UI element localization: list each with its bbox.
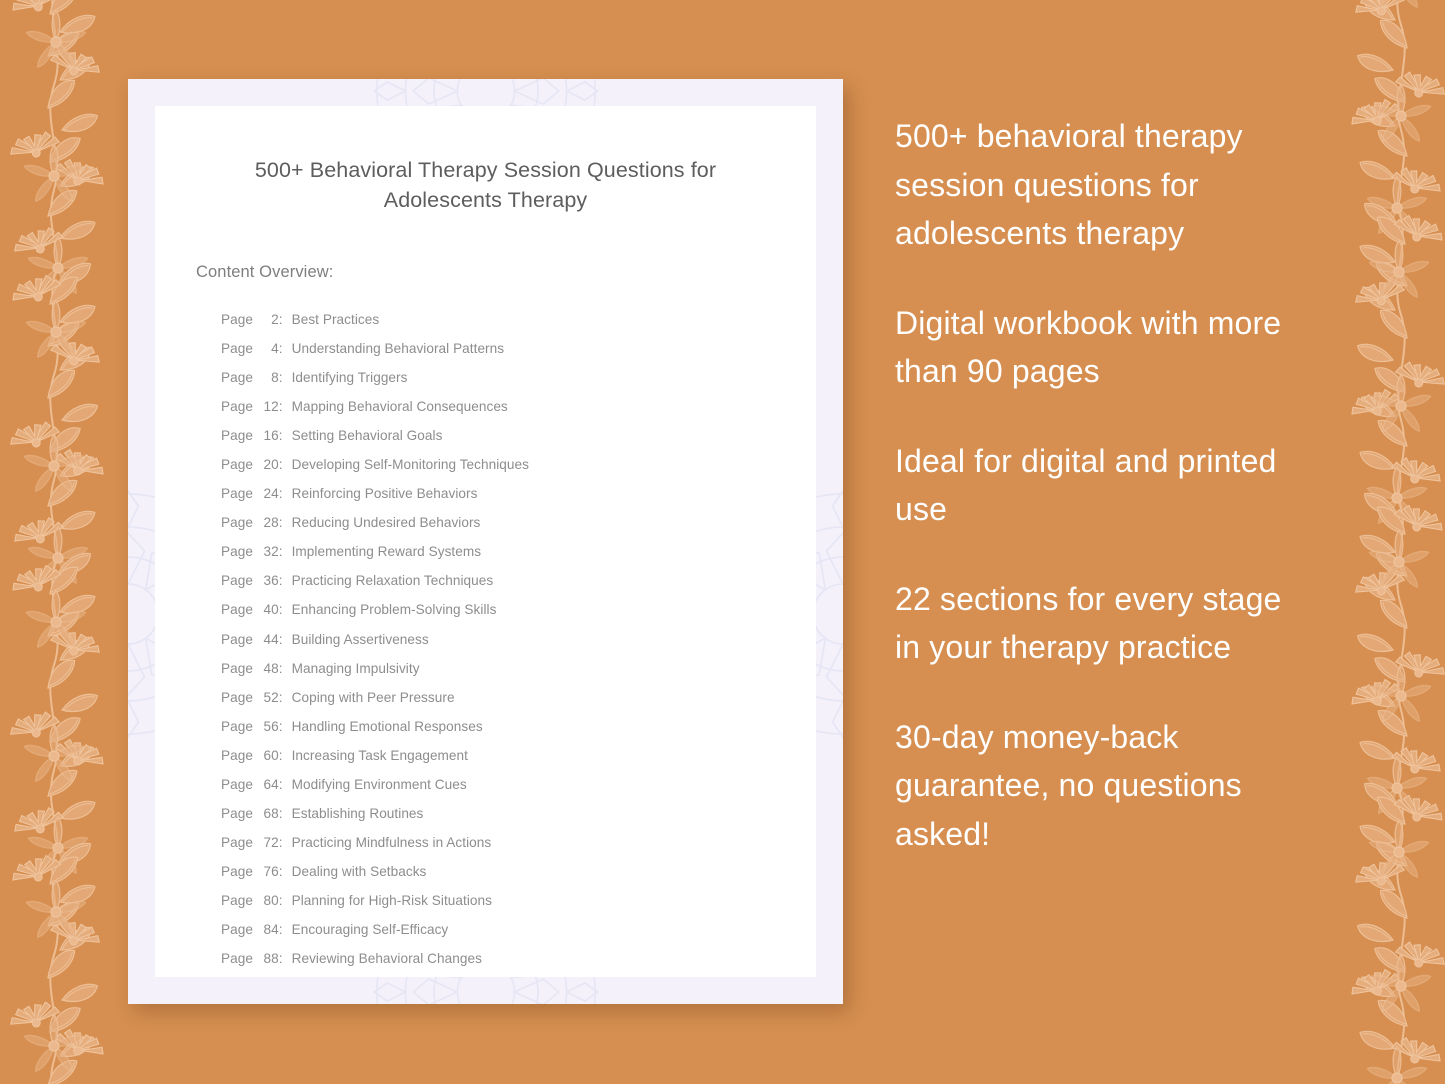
toc-page-number: 80 (257, 886, 279, 915)
toc-page-number: 68 (257, 799, 279, 828)
toc-section-title: Establishing Routines (283, 799, 424, 828)
toc-page-cell: Page 28: (221, 508, 283, 537)
list-item[interactable]: Page 60:Increasing Task Engagement (221, 741, 816, 770)
list-item[interactable]: Page 32:Implementing Reward Systems (221, 537, 816, 566)
toc-page-label: Page (221, 893, 253, 908)
list-item[interactable]: Page 92:Notes Template (221, 973, 816, 977)
toc-section-title: Encouraging Self-Efficacy (283, 915, 449, 944)
toc-page-label: Page (221, 690, 253, 705)
table-of-contents-list: Page 2:Best PracticesPage 4:Understandin… (221, 305, 816, 977)
list-item[interactable]: Page 2:Best Practices (221, 305, 816, 334)
toc-page-label: Page (221, 864, 253, 879)
toc-page-number: 44 (257, 625, 279, 654)
toc-section-title: Practicing Relaxation Techniques (283, 566, 494, 595)
list-item[interactable]: Page 48:Managing Impulsivity (221, 654, 816, 683)
toc-page-number: 16 (257, 421, 279, 450)
toc-page-number: 72 (257, 828, 279, 857)
toc-page-cell: Page 56: (221, 712, 283, 741)
toc-page-label: Page (221, 806, 253, 821)
toc-page-number: 8 (257, 363, 279, 392)
toc-page-cell: Page 16: (221, 421, 283, 450)
marketing-point: 500+ behavioral therapy session question… (895, 112, 1315, 258)
floral-vine-border-right (1310, 0, 1445, 1084)
toc-page-cell: Page 60: (221, 741, 283, 770)
list-item[interactable]: Page 56:Handling Emotional Responses (221, 712, 816, 741)
toc-page-label: Page (221, 719, 253, 734)
toc-page-label: Page (221, 457, 253, 472)
toc-page-label: Page (221, 486, 253, 501)
marketing-point: Ideal for digital and printed use (895, 437, 1315, 534)
toc-page-cell: Page 12: (221, 392, 283, 421)
document-preview-card[interactable]: 500+ Behavioral Therapy Session Question… (128, 79, 843, 1004)
toc-page-cell: Page 48: (221, 654, 283, 683)
toc-page-cell: Page 4: (221, 334, 283, 363)
toc-page-number: 60 (257, 741, 279, 770)
toc-section-title: Increasing Task Engagement (283, 741, 468, 770)
toc-page-cell: Page 76: (221, 857, 283, 886)
toc-section-title: Notes Template (283, 973, 387, 977)
list-item[interactable]: Page 16:Setting Behavioral Goals (221, 421, 816, 450)
toc-page-number: 2 (257, 305, 279, 334)
toc-page-cell: Page 36: (221, 566, 283, 595)
floral-vine-border-left (0, 0, 135, 1084)
toc-page-number: 20 (257, 450, 279, 479)
toc-page-cell: Page 68: (221, 799, 283, 828)
toc-page-number: 52 (257, 683, 279, 712)
toc-page-cell: Page 72: (221, 828, 283, 857)
toc-page-label: Page (221, 573, 253, 588)
page-title: 500+ Behavioral Therapy Session Question… (201, 155, 770, 215)
toc-section-title: Enhancing Problem-Solving Skills (283, 595, 497, 624)
toc-section-title: Identifying Triggers (283, 363, 408, 392)
toc-page-number: 64 (257, 770, 279, 799)
toc-page-label: Page (221, 632, 253, 647)
toc-section-title: Coping with Peer Pressure (283, 683, 455, 712)
toc-section-title: Setting Behavioral Goals (283, 421, 443, 450)
toc-section-title: Modifying Environment Cues (283, 770, 467, 799)
toc-page-cell: Page 64: (221, 770, 283, 799)
list-item[interactable]: Page 68:Establishing Routines (221, 799, 816, 828)
toc-page-number: 48 (257, 654, 279, 683)
toc-page-label: Page (221, 835, 253, 850)
toc-page-number: 28 (257, 508, 279, 537)
toc-page-cell: Page 88: (221, 944, 283, 973)
toc-section-title: Planning for High-Risk Situations (283, 886, 492, 915)
toc-page-cell: Page 2: (221, 305, 283, 334)
toc-section-title: Handling Emotional Responses (283, 712, 483, 741)
toc-page-number: 88 (257, 944, 279, 973)
toc-section-title: Understanding Behavioral Patterns (283, 334, 504, 363)
list-item[interactable]: Page 28:Reducing Undesired Behaviors (221, 508, 816, 537)
toc-page-label: Page (221, 399, 253, 414)
toc-page-number: 24 (257, 479, 279, 508)
list-item[interactable]: Page 24:Reinforcing Positive Behaviors (221, 479, 816, 508)
toc-page-cell: Page 84: (221, 915, 283, 944)
content-overview-label: Content Overview: (196, 263, 816, 282)
marketing-point: 22 sections for every stage in your ther… (895, 575, 1315, 672)
list-item[interactable]: Page 20:Developing Self-Monitoring Techn… (221, 450, 816, 479)
document-page: 500+ Behavioral Therapy Session Question… (155, 106, 816, 977)
toc-page-label: Page (221, 544, 253, 559)
list-item[interactable]: Page 76:Dealing with Setbacks (221, 857, 816, 886)
toc-section-title: Dealing with Setbacks (283, 857, 427, 886)
toc-section-title: Developing Self-Monitoring Techniques (283, 450, 529, 479)
toc-page-cell: Page 92: (221, 973, 283, 977)
toc-page-number: 36 (257, 566, 279, 595)
toc-page-label: Page (221, 661, 253, 676)
list-item[interactable]: Page 40:Enhancing Problem-Solving Skills (221, 595, 816, 624)
toc-page-number: 84 (257, 915, 279, 944)
toc-page-number: 4 (257, 334, 279, 363)
toc-page-cell: Page 32: (221, 537, 283, 566)
toc-page-label: Page (221, 951, 253, 966)
list-item[interactable]: Page 80:Planning for High-Risk Situation… (221, 886, 816, 915)
toc-page-number: 12 (257, 392, 279, 421)
toc-section-title: Managing Impulsivity (283, 654, 420, 683)
list-item[interactable]: Page 4:Understanding Behavioral Patterns (221, 334, 816, 363)
toc-page-label: Page (221, 922, 253, 937)
toc-page-cell: Page 44: (221, 625, 283, 654)
toc-page-label: Page (221, 748, 253, 763)
toc-section-title: Reviewing Behavioral Changes (283, 944, 482, 973)
toc-page-cell: Page 24: (221, 479, 283, 508)
toc-page-cell: Page 80: (221, 886, 283, 915)
toc-page-number: 56 (257, 712, 279, 741)
toc-section-title: Building Assertiveness (283, 625, 429, 654)
list-item[interactable]: Page 36:Practicing Relaxation Techniques (221, 566, 816, 595)
toc-page-label: Page (221, 515, 253, 530)
list-item[interactable]: Page 64:Modifying Environment Cues (221, 770, 816, 799)
marketing-points-panel: 500+ behavioral therapy session question… (895, 112, 1315, 858)
list-item[interactable]: Page 84:Encouraging Self-Efficacy (221, 915, 816, 944)
toc-page-label: Page (221, 312, 253, 327)
list-item[interactable]: Page 88:Reviewing Behavioral Changes (221, 944, 816, 973)
toc-section-title: Best Practices (283, 305, 380, 334)
list-item[interactable]: Page 12:Mapping Behavioral Consequences (221, 392, 816, 421)
toc-page-number: 32 (257, 537, 279, 566)
list-item[interactable]: Page 72:Practicing Mindfulness in Action… (221, 828, 816, 857)
toc-page-label: Page (221, 428, 253, 443)
toc-section-title: Implementing Reward Systems (283, 537, 481, 566)
toc-page-cell: Page 40: (221, 595, 283, 624)
toc-section-title: Reinforcing Positive Behaviors (283, 479, 478, 508)
marketing-point: Digital workbook with more than 90 pages (895, 299, 1315, 396)
toc-page-cell: Page 20: (221, 450, 283, 479)
toc-section-title: Reducing Undesired Behaviors (283, 508, 481, 537)
toc-page-label: Page (221, 602, 253, 617)
list-item[interactable]: Page 52:Coping with Peer Pressure (221, 683, 816, 712)
marketing-point: 30-day money-back guarantee, no question… (895, 713, 1315, 859)
toc-page-label: Page (221, 370, 253, 385)
floral-vine-border-icon (1310, 0, 1445, 1084)
toc-page-label: Page (221, 341, 253, 356)
toc-page-number: 92 (257, 973, 279, 977)
list-item[interactable]: Page 8:Identifying Triggers (221, 363, 816, 392)
floral-vine-border-icon (0, 0, 135, 1084)
toc-section-title: Mapping Behavioral Consequences (283, 392, 508, 421)
toc-page-label: Page (221, 777, 253, 792)
toc-page-cell: Page 8: (221, 363, 283, 392)
toc-page-number: 76 (257, 857, 279, 886)
toc-page-cell: Page 52: (221, 683, 283, 712)
toc-section-title: Practicing Mindfulness in Actions (283, 828, 492, 857)
toc-page-number: 40 (257, 595, 279, 624)
list-item[interactable]: Page 44:Building Assertiveness (221, 625, 816, 654)
